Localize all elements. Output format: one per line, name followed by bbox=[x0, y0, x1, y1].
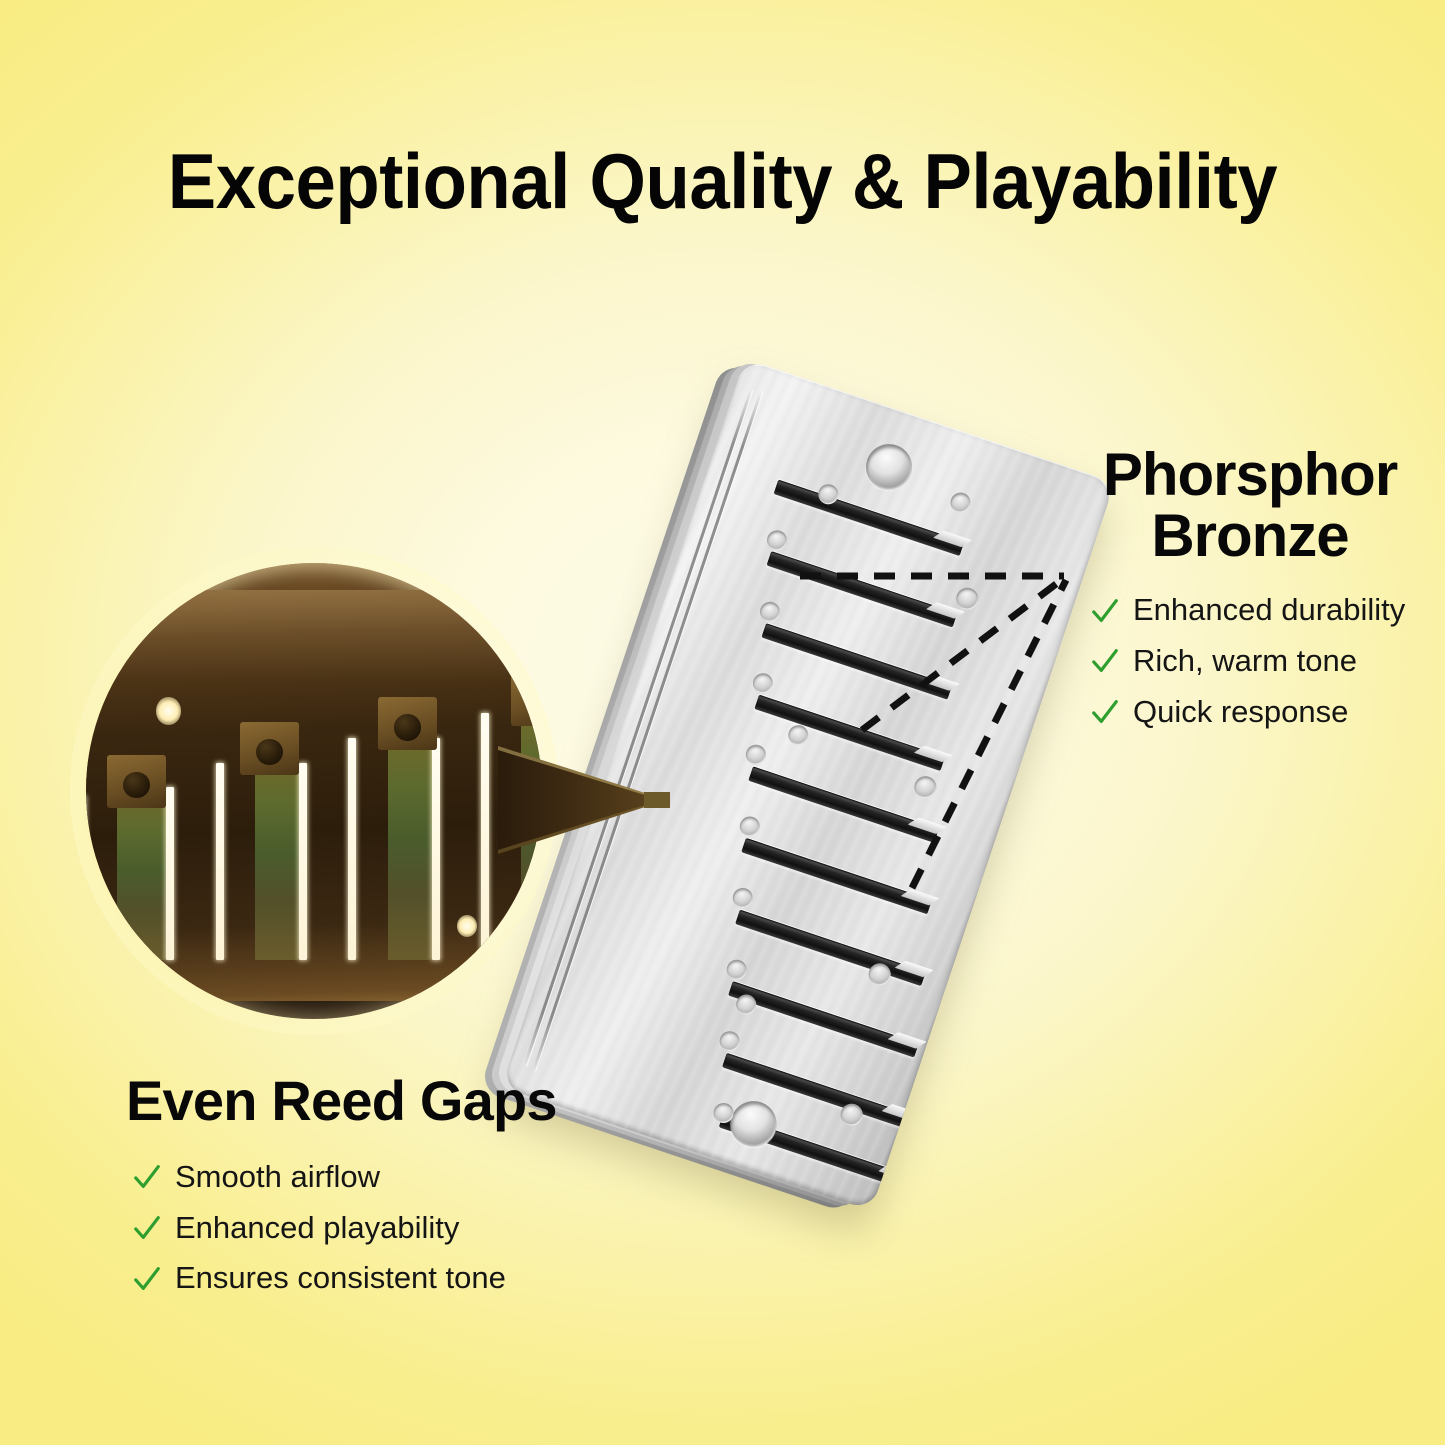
rivet-dimple bbox=[764, 528, 789, 553]
bronze-reed bbox=[255, 763, 299, 960]
reed-gap bbox=[432, 738, 440, 960]
rivet-dimple bbox=[757, 599, 782, 624]
reed-slot bbox=[735, 910, 926, 986]
rivet-dimple bbox=[737, 814, 762, 839]
bullet-label: Smooth airflow bbox=[175, 1159, 380, 1196]
bullet-item: Rich, warm tone bbox=[1090, 643, 1428, 680]
rivet-dimple bbox=[948, 490, 973, 515]
check-icon bbox=[1090, 697, 1120, 727]
bullet-label: Ensures consistent tone bbox=[175, 1260, 506, 1297]
magnified-reed-plate-bronze bbox=[86, 590, 542, 1000]
callout-bronze-title-line-1: Phorsphor bbox=[1072, 444, 1428, 505]
reed-rivet bbox=[123, 772, 150, 798]
reed-slot bbox=[728, 981, 919, 1057]
reed-gap-magnifier bbox=[86, 563, 542, 1019]
screw-hole bbox=[860, 438, 918, 496]
reed-gap bbox=[299, 763, 307, 960]
callout-bronze-title-line-2: Bronze bbox=[1072, 505, 1428, 566]
magnifier-cone-pointer bbox=[498, 740, 670, 860]
rivet-dimple bbox=[911, 773, 939, 801]
bronze-reed bbox=[117, 796, 166, 960]
reed-rivet bbox=[394, 714, 421, 740]
reed-rivet bbox=[256, 739, 283, 765]
callout-even-reed-gaps: Even Reed Gaps Smooth airflowEnhanced pl… bbox=[126, 1072, 646, 1311]
reed-slot bbox=[761, 623, 952, 699]
infographic-canvas: Exceptional Quality & Playability bbox=[0, 0, 1445, 1445]
rivet-dimple bbox=[730, 885, 755, 910]
reed-gap bbox=[348, 738, 356, 960]
reed-slot bbox=[748, 766, 939, 842]
callout-gaps-title: Even Reed Gaps bbox=[126, 1072, 646, 1129]
bullet-label: Enhanced playability bbox=[175, 1210, 459, 1247]
bullet-item: Quick response bbox=[1090, 694, 1428, 731]
callout-bronze-bullet-list: Enhanced durabilityRich, warm toneQuick … bbox=[1072, 592, 1428, 730]
callout-bronze-title: Phorsphor Bronze bbox=[1072, 444, 1428, 566]
reed-gap bbox=[216, 763, 224, 960]
bullet-item: Ensures consistent tone bbox=[132, 1260, 646, 1297]
check-icon bbox=[1090, 596, 1120, 626]
specular-highlight bbox=[156, 697, 181, 725]
check-icon bbox=[1090, 646, 1120, 676]
page-title: Exceptional Quality & Playability bbox=[51, 142, 1395, 220]
bullet-label: Quick response bbox=[1133, 694, 1348, 731]
rivet-dimple bbox=[750, 671, 775, 696]
reed-slot bbox=[767, 551, 958, 627]
rivet-dimple bbox=[724, 957, 749, 982]
specular-highlight bbox=[457, 915, 477, 937]
callout-phosphor-bronze: Phorsphor Bronze Enhanced durabilityRich… bbox=[1072, 444, 1428, 744]
reed-gap bbox=[481, 713, 489, 951]
reed-slot bbox=[741, 838, 932, 914]
check-icon bbox=[132, 1213, 162, 1243]
reed-gap bbox=[166, 787, 174, 959]
bullet-label: Rich, warm tone bbox=[1133, 643, 1357, 680]
bronze-reed bbox=[388, 738, 432, 960]
magnifier-disc bbox=[86, 563, 542, 1019]
reed-slot bbox=[774, 480, 965, 556]
check-icon bbox=[132, 1264, 162, 1294]
plate-groove bbox=[523, 390, 752, 1066]
rivet-dimple bbox=[743, 742, 768, 767]
callout-gaps-title-line-1: Even Reed Gaps bbox=[126, 1072, 646, 1129]
rivet-dimple bbox=[717, 1029, 742, 1054]
bullet-label: Enhanced durability bbox=[1133, 592, 1405, 629]
callout-gaps-bullet-list: Smooth airflowEnhanced playabilityEnsure… bbox=[126, 1159, 646, 1297]
bullet-item: Smooth airflow bbox=[132, 1159, 646, 1196]
reed-slot bbox=[754, 695, 945, 771]
bullet-item: Enhanced playability bbox=[132, 1210, 646, 1247]
bullet-item: Enhanced durability bbox=[1090, 592, 1428, 629]
check-icon bbox=[132, 1162, 162, 1192]
